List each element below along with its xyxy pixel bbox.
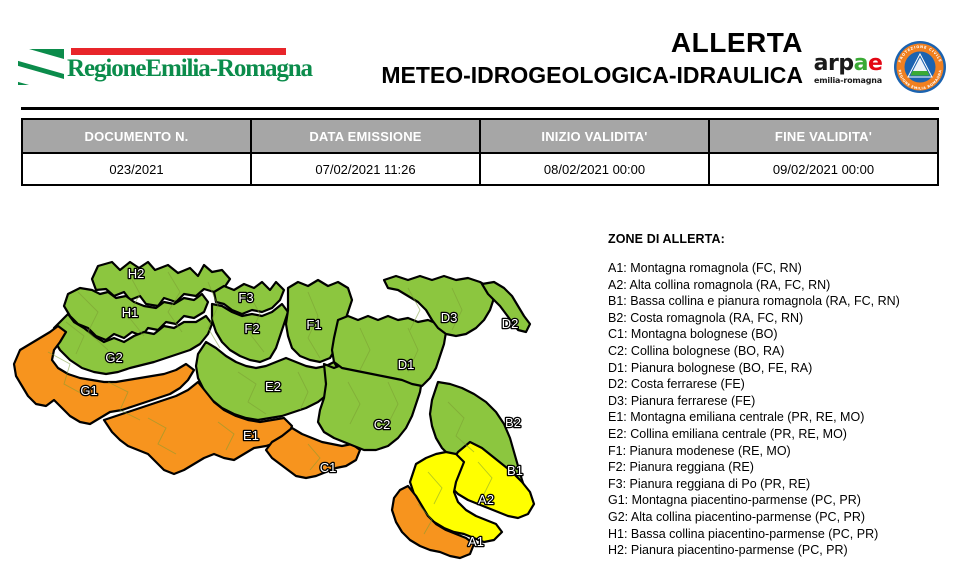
legend-title: ZONE DI ALLERTA: <box>608 232 953 246</box>
map-label-E1: E1 <box>243 428 259 443</box>
title-allerta: ALLERTA <box>153 26 803 60</box>
title-subtitle: METEO-IDROGEOLOGICA-IDRAULICA <box>153 60 803 90</box>
map-label-B2: B2 <box>505 415 521 430</box>
legend-item: A2: Alta collina romagnola (RA, FC, RN) <box>608 277 953 294</box>
map-label-H2: H2 <box>128 266 145 281</box>
arpae-wordmark: arpae <box>812 52 884 76</box>
legend-item: A1: Montagna romagnola (FC, RN) <box>608 260 953 277</box>
legend-item: F3: Pianura reggiana di Po (PR, RE) <box>608 476 953 493</box>
map-label-A2: A2 <box>478 492 494 507</box>
cell-documento-n: 023/2021 <box>22 153 251 185</box>
legend-item: B1: Bassa collina e pianura romagnola (R… <box>608 293 953 310</box>
legend-item: C2: Collina bolognese (BO, RA) <box>608 343 953 360</box>
document-info-table: DOCUMENTO N. DATA EMISSIONE INIZIO VALID… <box>21 118 939 186</box>
cell-inizio-validita: 08/02/2021 00:00 <box>480 153 709 185</box>
arpae-part-black: arp <box>814 51 854 76</box>
legend-list: A1: Montagna romagnola (FC, RN)A2: Alta … <box>608 260 953 559</box>
col-fine-validita: FINE VALIDITA' <box>709 119 938 153</box>
map-label-D3: D3 <box>441 310 458 325</box>
rer-wave-mark-icon <box>18 49 64 85</box>
arpae-subtitle: emilia-romagna <box>812 76 884 86</box>
legend-item: D3: Pianura ferrarese (FE) <box>608 393 953 410</box>
map-svg: H2H1G2G1F3F2F1E2E1D3D2D1C2C1B2B1A2A1 <box>8 232 588 562</box>
arpae-logo: arpae emilia-romagna <box>812 52 884 92</box>
map-label-F3: F3 <box>238 290 253 305</box>
map-label-E2: E2 <box>265 379 281 394</box>
page-header: RegioneEmilia-Romagna ALLERTA METEO-IDRO… <box>0 0 960 104</box>
col-inizio-validita: INIZIO VALIDITA' <box>480 119 709 153</box>
header-divider <box>21 107 939 110</box>
col-documento-n: DOCUMENTO N. <box>22 119 251 153</box>
cell-fine-validita: 09/02/2021 00:00 <box>709 153 938 185</box>
map-label-F1: F1 <box>306 317 321 332</box>
map-label-D2: D2 <box>502 316 519 331</box>
map-label-G1: G1 <box>80 383 97 398</box>
map-label-D1: D1 <box>398 357 415 372</box>
map-label-F2: F2 <box>244 321 259 336</box>
legend-item: D2: Costa ferrarese (FE) <box>608 376 953 393</box>
legend-item: G1: Montagna piacentino-parmense (PC, PR… <box>608 492 953 509</box>
table-header-row: DOCUMENTO N. DATA EMISSIONE INIZIO VALID… <box>22 119 938 153</box>
legend-item: E1: Montagna emiliana centrale (PR, RE, … <box>608 409 953 426</box>
legend-item: B2: Costa romagnola (RA, FC, RN) <box>608 310 953 327</box>
map-label-H1: H1 <box>122 305 139 320</box>
legend-item: F1: Pianura modenese (RE, MO) <box>608 443 953 460</box>
map-label-G2: G2 <box>105 350 122 365</box>
arpae-part-green: a <box>854 51 868 76</box>
legend-item: E2: Collina emiliana centrale (PR, RE, M… <box>608 426 953 443</box>
map-label-C1: C1 <box>320 460 337 475</box>
arpae-part-red: e <box>868 51 882 76</box>
alert-zones-map: H2H1G2G1F3F2F1E2E1D3D2D1C2C1B2B1A2A1 <box>8 232 588 562</box>
legend-item: G2: Alta collina piacentino-parmense (PC… <box>608 509 953 526</box>
map-label-C2: C2 <box>374 417 391 432</box>
map-label-B1: B1 <box>507 463 523 478</box>
page-title: ALLERTA METEO-IDROGEOLOGICA-IDRAULICA <box>153 26 803 90</box>
legend-item: D1: Pianura bolognese (BO, FE, RA) <box>608 360 953 377</box>
legend-item: H1: Bassa collina piacentino-parmense (P… <box>608 526 953 543</box>
legend-item: C1: Montagna bolognese (BO) <box>608 326 953 343</box>
legend-item: H2: Pianura piacentino-parmense (PC, PR) <box>608 542 953 559</box>
protezione-civile-logo-icon: PROTEZIONE CIVILE REGIONE EMILIA ROMAGNA <box>893 40 947 94</box>
cell-data-emissione: 07/02/2021 11:26 <box>251 153 480 185</box>
legend-panel: ZONE DI ALLERTA: A1: Montagna romagnola … <box>608 232 953 559</box>
col-data-emissione: DATA EMISSIONE <box>251 119 480 153</box>
legend-item: F2: Pianura reggiana (RE) <box>608 459 953 476</box>
table-row: 023/2021 07/02/2021 11:26 08/02/2021 00:… <box>22 153 938 185</box>
map-label-A1: A1 <box>468 534 484 549</box>
